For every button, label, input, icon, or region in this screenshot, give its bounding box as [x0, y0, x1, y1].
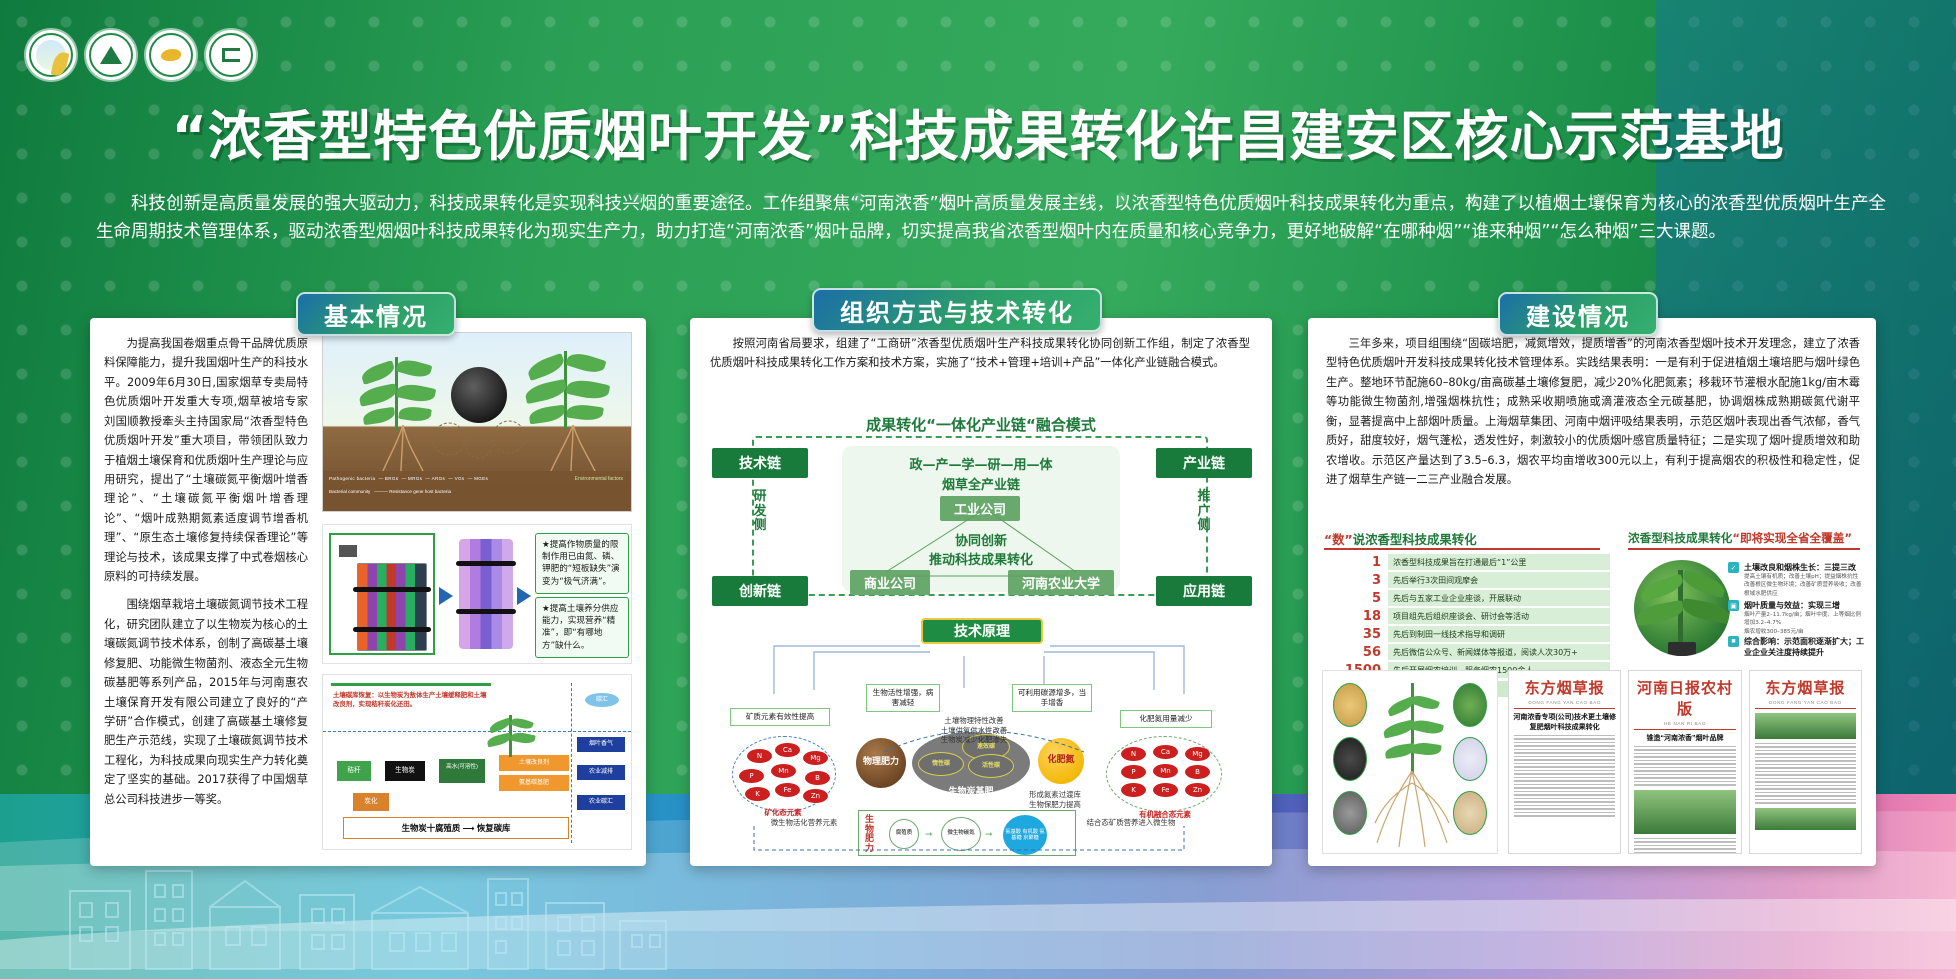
coverage-title-prefix: 浓香型科技成果转化	[1628, 531, 1732, 545]
oval-field-photo	[1453, 683, 1487, 727]
stats-title: “数”说浓香型科技成果转化	[1324, 530, 1574, 548]
logo-henan-nongxiang	[26, 30, 76, 80]
node-straw: 秸秆	[337, 761, 371, 781]
coverage-item-impact: ■ 综合影响：示范面积逐渐扩大；工业企业关注度持续提升	[1744, 636, 1864, 658]
stat-row: 1 浓香型科技成果旨在打通最后“1”公里	[1324, 554, 1610, 570]
triangle-connectors-icon	[840, 496, 1122, 588]
stats-title-rest: 说浓香型科技成果转化	[1353, 532, 1477, 547]
note-limiting-factor: ★提高作物质量的限制作用已由氮、磷、钾肥的“短板缺失”演变为“极气济满”。	[535, 533, 629, 594]
panel-construction-status: 三年多来，项目组围绕“固碳培肥，减氮增效，提质增香”的河南浓香型烟叶技术开发理念…	[1308, 318, 1876, 866]
newspaper-body-lines-2	[1634, 838, 1735, 854]
newspaper-pinyin: DONG FANG YAN CAO BAO	[1750, 700, 1861, 705]
section-badge-organization-technology: 组织方式与技术转化	[812, 288, 1102, 332]
stat-row: 18 项目组先后组织座谈会、研讨会等活动	[1324, 608, 1610, 624]
newspaper-rule	[1514, 708, 1615, 709]
figure-nutrient-process: ★提高作物质量的限制作用已由氮、磷、钾肥的“短板缺失”演变为“极气济满”。 ★提…	[322, 524, 632, 664]
chain-box-innovation: 创新链	[712, 576, 808, 606]
stat-text: 先后与五家工业企业座谈，开展联动	[1388, 590, 1610, 606]
figure-soil-microbiome: Pathogenic bacteria — BRGs — MRGs — ARGs…	[322, 332, 632, 512]
node-carbon-sink: 农业碳汇	[577, 795, 625, 810]
logo-row	[26, 30, 256, 80]
diagram-title-industry-chain: 成果转化“一体化产业链“融合模式	[690, 414, 1272, 435]
stat-row: 56 先后微信公众号、新闻媒体等报道，阅读人次30万+	[1324, 644, 1610, 660]
stat-number: 5	[1324, 591, 1388, 606]
node-carbonization: 炭化	[353, 793, 389, 811]
logo-henan-agricultural-university	[86, 30, 136, 80]
figure-legend-strip: Pathogenic bacteria — BRGs — MRGs — ARGs…	[323, 471, 631, 511]
chain-box-industry: 产业链	[1156, 448, 1252, 478]
stat-text: 项目组先后组织座谈会、研讨会等活动	[1388, 608, 1610, 624]
stats-rule	[1324, 548, 1600, 550]
oval-microbe-image	[1453, 737, 1487, 781]
interaction-arrows-icon	[427, 399, 531, 465]
coverage-rule	[1628, 548, 1860, 550]
node-emission-reduction: 农业减排	[577, 765, 625, 780]
figure-tobacco-root-analysis	[1322, 670, 1498, 854]
oval-sem-image	[1333, 791, 1367, 835]
stat-text: 先后举行3次田间观摩会	[1388, 572, 1610, 588]
root-fan-icon	[1369, 771, 1455, 849]
newspaper-rule	[1634, 729, 1735, 730]
left-paragraph-2: 围绕烟草栽培土壤碳氮调节技术工程化，研究团队建立了以生物炭为核心的土壤碳氮调节技…	[104, 595, 308, 809]
outcome-box-bioactivity: 生物活性增强，病害减轻	[866, 684, 940, 712]
stat-number: 35	[1324, 627, 1388, 642]
stat-number: 56	[1324, 645, 1388, 660]
leaf-icon: ✓	[1728, 562, 1739, 573]
section-badge-basic-situation: 基本情况	[296, 292, 456, 336]
node-biochar: 生物炭	[385, 761, 425, 781]
node-soluble: 高水(可溶性)	[439, 759, 485, 783]
chain-box-application: 应用链	[1156, 576, 1252, 606]
newspaper-masthead: 东方烟草报	[1509, 671, 1620, 698]
section-badge-construction-status: 建设情况	[1498, 292, 1658, 336]
stat-number: 1	[1324, 555, 1388, 570]
coverage-title: 浓香型科技成果转化“即将实现全省全覆盖”	[1628, 530, 1860, 546]
newspaper-clippings-row: 东方烟草报 DONG FANG YAN CAO BAO 河南浓香专项(公司)技术…	[1508, 670, 1862, 854]
node-carbon-cloud: 碳汇	[585, 693, 619, 707]
newspaper-masthead: 东方烟草报	[1750, 671, 1861, 698]
coverage-item-soil: ✓ 土壤改良和烟株生长：三提三改 提高土壤有机质；改善土壤pH；提益烟株抗性 改…	[1744, 562, 1864, 598]
stat-row: 35 先后到制田一线技术指导和调研	[1324, 626, 1610, 642]
intro-paragraph: 科技创新是高质量发展的强大驱动力，科技成果转化是实现科技兴烟的重要途径。工作组聚…	[96, 190, 1886, 247]
note-nutrient-supply: ★提高土壤养分供应能力，实现营养“精准”，即“有哪地方”缺什么。	[535, 597, 629, 658]
newspaper-body-lines	[1634, 746, 1735, 786]
chart-icon: ■	[1728, 636, 1739, 647]
coverage-item-sub: 提高土壤有机质；改善土壤pH；提益烟株抗性 改善根区微生物环境；改善矿质营养吸收…	[1744, 573, 1864, 598]
principle-connector-arrows-icon	[714, 630, 1248, 710]
newspaper-clipping: 东方烟草报 DONG FANG YAN CAO BAO	[1749, 670, 1862, 854]
stat-text: 先后微信公众号、新闻媒体等报道，阅读人次30万+	[1388, 644, 1610, 660]
newspaper-headline: 河南浓香专项(公司)技术更土壤修复肥烟叶科技成果转化	[1511, 712, 1618, 732]
figure3-title: 土壤碳库恢复：以生物炭为敖体生产土壤缓释肥和土壤改良剂，实现秸秆炭化还田。	[333, 691, 489, 709]
newspaper-body-lines	[1514, 735, 1615, 817]
newspaper-photo	[1634, 790, 1735, 834]
stat-text: 先后到制田一线技术指导和调研	[1388, 626, 1610, 642]
coverage-item-quality: ▣ 烟叶质量与效益：实现三增 烟叶产量2–11.7kg/亩；烟叶中度、上等烟比例…	[1744, 600, 1864, 636]
coverage-item-sub: 烟叶产量2–11.7kg/亩；烟叶中度、上等烟比例增加3.2–4.7% 烟农增收…	[1744, 611, 1864, 636]
stat-text: 浓香型科技成果旨在打通最后“1”公里	[1388, 554, 1610, 570]
coverage-item-head: 土壤改良和烟株生长：三提三改	[1744, 562, 1864, 573]
inner-line-government-chain: 政—产—学—研—用—体	[842, 454, 1120, 473]
logo-company	[206, 30, 256, 80]
panel-organization-technology: 按照河南省局要求，组建了“工商研”浓香型优质烟叶生产科技成果转化协同创新工作组，…	[690, 318, 1272, 866]
newspaper-clipping: 东方烟草报 DONG FANG YAN CAO BAO 河南浓香专项(公司)技术…	[1508, 670, 1621, 854]
side-label-rd: 研发侧	[750, 490, 770, 534]
stat-number: 18	[1324, 609, 1388, 624]
node-soil-amendment: 土壤改良剂	[499, 755, 569, 771]
left-body-text: 为提高我国卷烟重点骨干品牌优质原料保障能力，提升我国烟叶生产的科技水平。2009…	[104, 334, 308, 818]
right-paragraph: 三年多来，项目组围绕“固碳培肥，减氮增效，提质增香”的河南浓香型烟叶技术开发理念…	[1326, 334, 1860, 489]
newspaper-body-lines	[1755, 743, 1856, 804]
figure3-footer: 生物炭十腐殖质 ⟶ 恢复碳库	[343, 817, 569, 839]
oval-biochar-sample	[1333, 737, 1367, 781]
panel-basic-situation: 为提高我国卷烟重点骨干品牌优质原料保障能力，提升我国烟叶生产的科技水平。2009…	[90, 318, 646, 866]
node-leaf-aroma: 烟叶香气	[577, 737, 625, 752]
newspaper-pinyin: DONG FANG YAN CAO BAO	[1509, 700, 1620, 705]
stat-row: 3 先后举行3次田间观摩会	[1324, 572, 1610, 588]
coverage-item-head: 烟叶质量与效益：实现三增	[1744, 600, 1864, 611]
newspaper-rule	[1755, 708, 1856, 709]
oval-leaf-sample	[1333, 683, 1367, 727]
coverage-title-emphasis: “即将实现全省全覆盖”	[1732, 531, 1852, 545]
grid-icon: ▣	[1728, 600, 1739, 611]
figure-carbon-pool-restoration: 土壤碳库恢复：以生物炭为敖体生产土壤缓释肥和土壤改良剂，实现秸秆炭化还田。 秸秆…	[322, 674, 632, 850]
node-amino-carbon-fert: 氨基碳基肥	[499, 775, 569, 791]
outcome-box-carbon-source: 可利用碳源增多，当手增香	[1012, 684, 1092, 712]
left-paragraph-1: 为提高我国卷烟重点骨干品牌优质原料保障能力，提升我国烟叶生产的科技水平。2009…	[104, 334, 308, 586]
coverage-item-head: 综合影响：示范面积逐渐扩大；工业企业关注度持续提升	[1744, 636, 1864, 658]
inner-line-tobacco-chain: 烟草全产业链	[842, 474, 1120, 493]
newspaper-photo-2	[1755, 808, 1856, 830]
page-title: “浓香型特色优质烟叶开发”科技成果转化许昌建安区核心示范基地	[0, 92, 1956, 171]
center-paragraph: 按照河南省局要求，组建了“工商研”浓香型优质烟叶生产科技成果转化协同创新工作组，…	[710, 334, 1250, 373]
logo-tobacco-bureau	[146, 30, 196, 80]
chain-box-technology: 技术链	[712, 448, 808, 478]
oval-root-section	[1453, 791, 1487, 835]
coverage-photo-tobacco	[1634, 560, 1730, 656]
newspaper-masthead: 河南日报农村版	[1629, 671, 1740, 719]
stat-row: 5 先后与五家工业企业座谈，开展联动	[1324, 590, 1610, 606]
stats-title-quoted: “数”	[1324, 532, 1353, 547]
principle-dashed-links-icon	[714, 718, 1248, 860]
stat-number: 3	[1324, 573, 1388, 588]
newspaper-headline: 锥造“河南浓香”烟叶品牌	[1631, 733, 1738, 743]
newspaper-pinyin: HE NAN RI BAO	[1629, 721, 1740, 726]
newspaper-photo	[1755, 713, 1856, 739]
side-label-promotion: 推广侧	[1194, 490, 1214, 534]
newspaper-clipping: 河南日报农村版 HE NAN RI BAO 锥造“河南浓香”烟叶品牌	[1628, 670, 1741, 854]
